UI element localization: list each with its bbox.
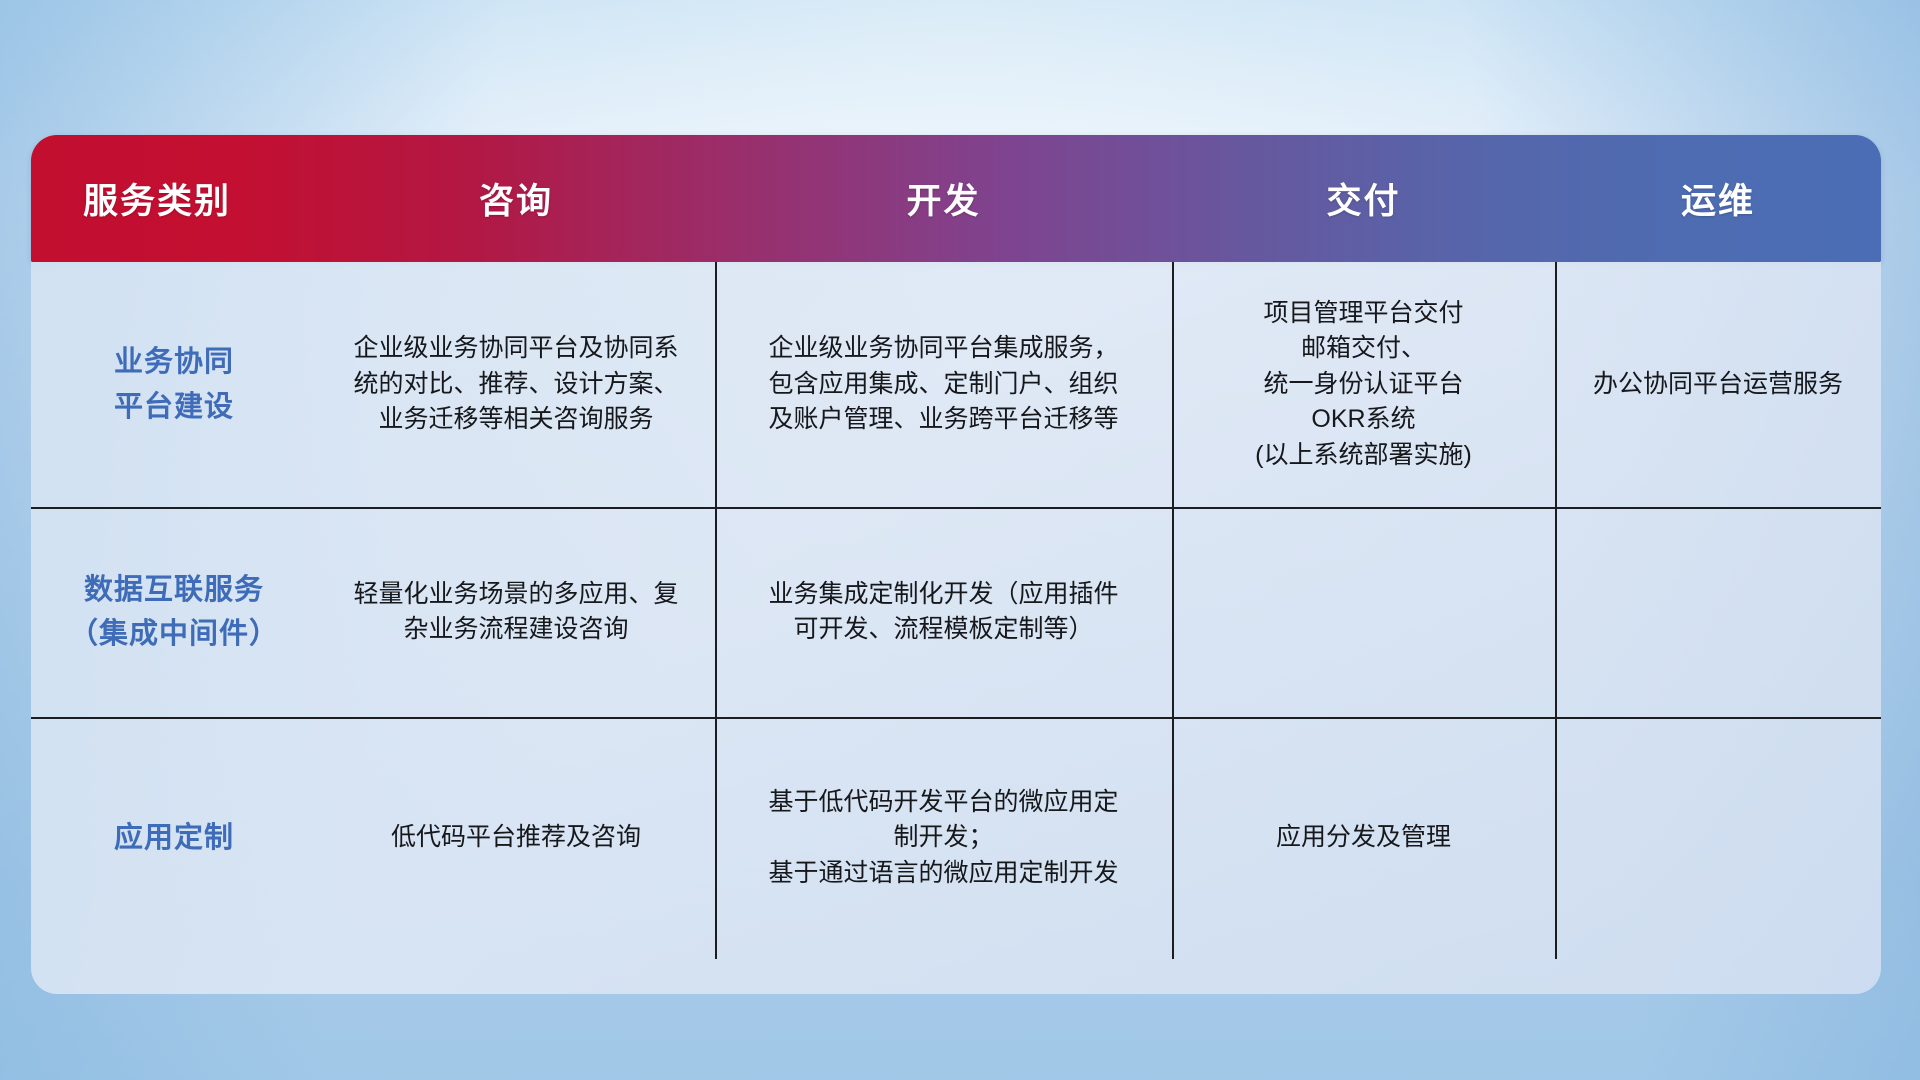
cell-delivery-row1: 项目管理平台交付 邮箱交付、 统一身份认证平台 OKR系统 (以上系统部署实施) (1172, 262, 1555, 507)
table-row: 应用定制 低代码平台推荐及咨询 基于低代码开发平台的微应用定 制开发； 基于通过… (31, 717, 1881, 959)
cell-delivery-row2 (1172, 507, 1555, 717)
service-matrix-table: 服务类别 咨询 开发 交付 运维 业务协同 平台建设 企业级业务协同平台及协同系… (31, 135, 1881, 994)
table-bottom-padding (31, 959, 1881, 994)
cell-development-row1: 企业级业务协同平台集成服务， 包含应用集成、定制门户、组织 及账户管理、业务跨平… (715, 262, 1172, 507)
cell-operations-row1: 办公协同平台运营服务 (1555, 262, 1881, 507)
cell-delivery-row3: 应用分发及管理 (1172, 717, 1555, 959)
cell-consulting-row1: 企业级业务协同平台及协同系 统的对比、推荐、设计方案、 业务迁移等相关咨询服务 (317, 262, 715, 507)
column-header-operations: 运维 (1555, 135, 1881, 262)
column-header-consulting: 咨询 (317, 135, 715, 262)
row-label-business-collaboration-platform: 业务协同 平台建设 (31, 262, 317, 507)
table-row: 数据互联服务 （集成中间件） 轻量化业务场景的多应用、复 杂业务流程建设咨询 业… (31, 507, 1881, 717)
cell-consulting-row2: 轻量化业务场景的多应用、复 杂业务流程建设咨询 (317, 507, 715, 717)
row-label-application-customization: 应用定制 (31, 717, 317, 959)
cell-consulting-row3: 低代码平台推荐及咨询 (317, 717, 715, 959)
cell-operations-row3 (1555, 717, 1881, 959)
cell-development-row2: 业务集成定制化开发（应用插件 可开发、流程模板定制等） (715, 507, 1172, 717)
column-header-delivery: 交付 (1172, 135, 1555, 262)
slide-canvas: 服务类别 咨询 开发 交付 运维 业务协同 平台建设 企业级业务协同平台及协同系… (0, 0, 1920, 1080)
cell-development-row3: 基于低代码开发平台的微应用定 制开发； 基于通过语言的微应用定制开发 (715, 717, 1172, 959)
column-header-development: 开发 (715, 135, 1172, 262)
cell-operations-row2 (1555, 507, 1881, 717)
row-label-data-interconnect-service: 数据互联服务 （集成中间件） (31, 507, 317, 717)
table-header-row: 服务类别 咨询 开发 交付 运维 (31, 135, 1881, 262)
column-header-service-category: 服务类别 (31, 135, 317, 262)
table-body: 业务协同 平台建设 企业级业务协同平台及协同系 统的对比、推荐、设计方案、 业务… (31, 262, 1881, 994)
table-row: 业务协同 平台建设 企业级业务协同平台及协同系 统的对比、推荐、设计方案、 业务… (31, 262, 1881, 507)
